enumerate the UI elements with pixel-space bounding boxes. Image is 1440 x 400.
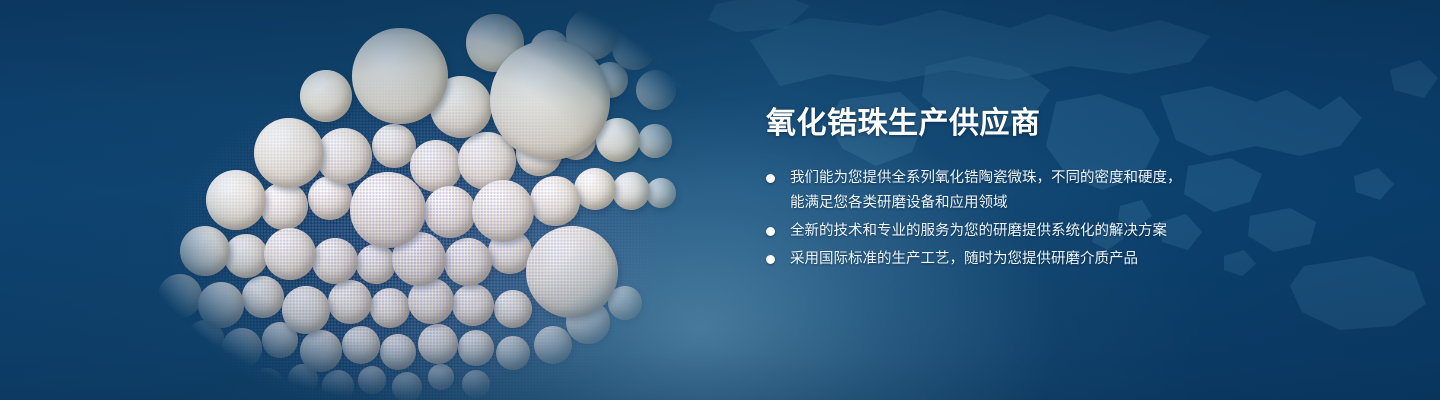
feature-list: 我们能为您提供全系列氧化锆陶瓷微珠，不同的密度和硬度，能满足您各类研磨设备和应用… [764, 166, 1284, 272]
list-item: 采用国际标准的生产工艺，随时为您提供研磨介质产品 [764, 247, 1284, 272]
list-item-text: 能满足您各类研磨设备和应用领域 [790, 191, 1284, 216]
list-item: 我们能为您提供全系列氧化锆陶瓷微珠，不同的密度和硬度，能满足您各类研磨设备和应用… [764, 166, 1284, 216]
list-item: 全新的技术和专业的服务为您的研磨提供系统化的解决方案 [764, 219, 1284, 244]
banner-content: 氧化锆珠生产供应商 我们能为您提供全系列氧化锆陶瓷微珠，不同的密度和硬度，能满足… [764, 104, 1284, 275]
page-title: 氧化锆珠生产供应商 [766, 104, 1284, 144]
bullet-dot-icon [766, 227, 775, 236]
list-item-text: 全新的技术和专业的服务为您的研磨提供系统化的解决方案 [790, 219, 1284, 244]
hero-banner: 氧化锆珠生产供应商 我们能为您提供全系列氧化锆陶瓷微珠，不同的密度和硬度，能满足… [0, 0, 1440, 400]
bullet-dot-icon [766, 255, 775, 264]
list-item-text: 我们能为您提供全系列氧化锆陶瓷微珠，不同的密度和硬度， [790, 166, 1284, 191]
bullet-dot-icon [766, 174, 775, 183]
list-item-text: 采用国际标准的生产工艺，随时为您提供研磨介质产品 [790, 247, 1284, 272]
